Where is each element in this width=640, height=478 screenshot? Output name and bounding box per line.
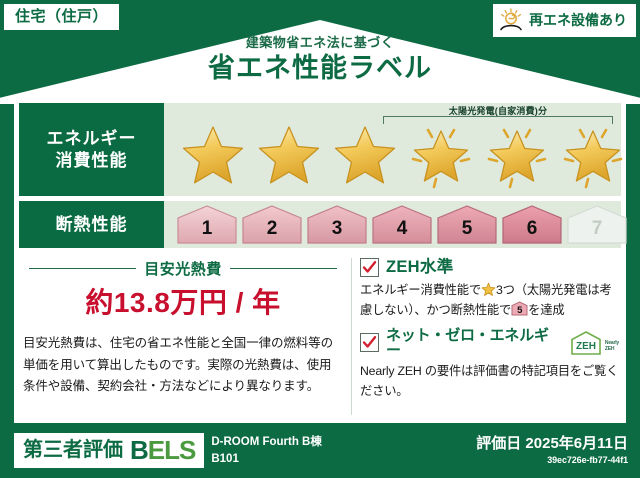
net-zero-heading: ネット・ゼロ・エネルギー ZEH Nearly ZEH xyxy=(360,328,619,358)
energy-label-line2: 消費性能 xyxy=(56,150,128,171)
energy-label-line1: エネルギー xyxy=(47,128,137,149)
utility-cost-heading: 目安光熱費 xyxy=(23,258,343,279)
zeh-standard-checkbox[interactable] xyxy=(360,258,379,277)
renewable-tag-label: 再エネ設備あり xyxy=(529,13,627,27)
star-4-solar xyxy=(404,118,478,192)
inline-star-icon xyxy=(481,282,496,297)
zeh-standard-description: エネルギー消費性能で 3つ（太陽光発電は考慮しない）、かつ断熱性能で 5を達成 xyxy=(360,281,619,321)
bels-logo-els: ELS xyxy=(148,435,196,465)
inline-insulation-badge-icon: 5 xyxy=(511,301,528,316)
zeh-standard-heading: ZEH水準 xyxy=(360,258,619,277)
heading-rule-left xyxy=(29,268,136,270)
energy-performance-row: エネルギー 消費性能 太陽光発電(自家消費)分 xyxy=(19,103,621,196)
evaluation-info: 評価日 2025年6月11日 39ec726e-fb77-44f1 xyxy=(476,436,628,466)
zeh-logo-caption-line2: ZEH xyxy=(605,346,614,352)
insulation-label-text: 断熱性能 xyxy=(56,214,128,235)
energy-performance-label: エネルギー 消費性能 xyxy=(19,103,164,196)
insulation-level-2: 2 xyxy=(241,205,303,245)
insulation-level-3: 3 xyxy=(306,205,368,245)
utility-cost-note: 目安光熱費は、住宅の省エネ性能と全国一律の燃料等の単価を用いて算出したものです。… xyxy=(23,333,343,398)
insulation-level-2-value: 2 xyxy=(267,219,278,245)
column-divider xyxy=(351,258,352,415)
star-2 xyxy=(252,118,326,192)
lower-section: 目安光熱費 約13.8万円 / 年 目安光熱費は、住宅の省エネ性能と全国一律の燃… xyxy=(19,254,621,421)
renewable-equipment-tag: 再エネ設備あり xyxy=(493,4,636,37)
page-title: 省エネ性能ラベル xyxy=(0,53,640,84)
bels-badge: 第三者評価 BELS xyxy=(14,433,204,468)
star-5-solar xyxy=(480,118,554,192)
star-1 xyxy=(176,118,250,192)
third-party-evaluation-label: 第三者評価 xyxy=(23,440,123,460)
insulation-level-3-value: 3 xyxy=(332,219,343,245)
zeh-logo-caption: Nearly ZEH xyxy=(605,341,619,356)
utility-cost-heading-text: 目安光熱費 xyxy=(144,258,222,279)
title-subtitle: 建築物省エネ法に基づく xyxy=(0,36,640,50)
label-card: エネルギー 消費性能 太陽光発電(自家消費)分 xyxy=(14,98,626,423)
insulation-level-4: 4 xyxy=(371,205,433,245)
insulation-rating-area: 1 2 xyxy=(164,201,621,248)
evaluation-date: 評価日 2025年6月11日 xyxy=(476,436,628,453)
energy-rating-area: 太陽光発電(自家消費)分 xyxy=(164,103,621,196)
zeh-logo: ZEH Nearly ZEH xyxy=(569,330,619,356)
net-zero-energy-block: ネット・ゼロ・エネルギー ZEH Nearly ZEH Nearly ZEH の… xyxy=(360,328,619,402)
insulation-performance-row: 断熱性能 1 xyxy=(19,201,621,248)
energy-star-rating xyxy=(176,115,615,194)
insulation-level-6-value: 6 xyxy=(527,219,538,245)
net-zero-checkbox[interactable] xyxy=(360,333,379,352)
zeh-desc-part1: エネルギー消費性能で xyxy=(360,283,481,297)
zeh-column: ZEH水準 エネルギー消費性能で 3つ（太陽光発電は考慮しない）、かつ断熱性能で… xyxy=(360,254,621,421)
insulation-level-4-value: 4 xyxy=(397,219,408,245)
net-zero-description: Nearly ZEH の要件は評価書の特記項目をご覧ください。 xyxy=(360,362,619,402)
property-info: D-ROOM Fourth B棟 B101 xyxy=(211,434,322,467)
property-name: D-ROOM Fourth B棟 xyxy=(211,434,322,450)
insulation-level-1-value: 1 xyxy=(202,219,213,245)
star-3 xyxy=(328,118,402,192)
star-6-solar xyxy=(556,118,630,192)
insulation-performance-label: 断熱性能 xyxy=(19,201,164,248)
zeh-desc-part3: を達成 xyxy=(528,303,564,317)
utility-cost-column: 目安光熱費 約13.8万円 / 年 目安光熱費は、住宅の省エネ性能と全国一律の燃… xyxy=(19,254,351,421)
label-title-block: 建築物省エネ法に基づく 省エネ性能ラベル xyxy=(0,36,640,84)
insulation-level-5: 5 xyxy=(436,205,498,245)
insulation-level-5-value: 5 xyxy=(462,219,473,245)
insulation-level-7: 7 xyxy=(566,205,628,245)
utility-cost-value: 約13.8万円 / 年 xyxy=(23,289,343,317)
net-zero-title: ネット・ゼロ・エネルギー xyxy=(386,328,560,358)
svg-text:ZEH: ZEH xyxy=(576,341,596,352)
house-type-tag: 住宅（住戸） xyxy=(4,4,119,30)
sun-icon xyxy=(498,8,524,32)
insulation-level-7-value: 7 xyxy=(592,219,603,245)
insulation-level-1: 1 xyxy=(176,205,238,245)
zeh-desc-stars: 3つ（太陽光発電 xyxy=(496,283,587,297)
insulation-level-6: 6 xyxy=(501,205,563,245)
footer-bar: 第三者評価 BELS D-ROOM Fourth B棟 B101 評価日 202… xyxy=(0,423,640,478)
property-unit: B101 xyxy=(211,451,322,467)
inline-badge-value: 5 xyxy=(511,303,528,318)
insulation-level-scale: 1 2 xyxy=(176,204,611,245)
zeh-standard-block: ZEH水準 エネルギー消費性能で 3つ（太陽光発電は考慮しない）、かつ断熱性能で… xyxy=(360,258,619,321)
zeh-house-icon: ZEH xyxy=(569,330,603,356)
bels-logo: BELS xyxy=(130,437,195,463)
heading-rule-right xyxy=(230,268,337,270)
bels-logo-b: B xyxy=(130,435,148,465)
certificate-id: 39ec726e-fb77-44f1 xyxy=(476,455,628,465)
zeh-standard-title: ZEH水準 xyxy=(386,259,454,276)
